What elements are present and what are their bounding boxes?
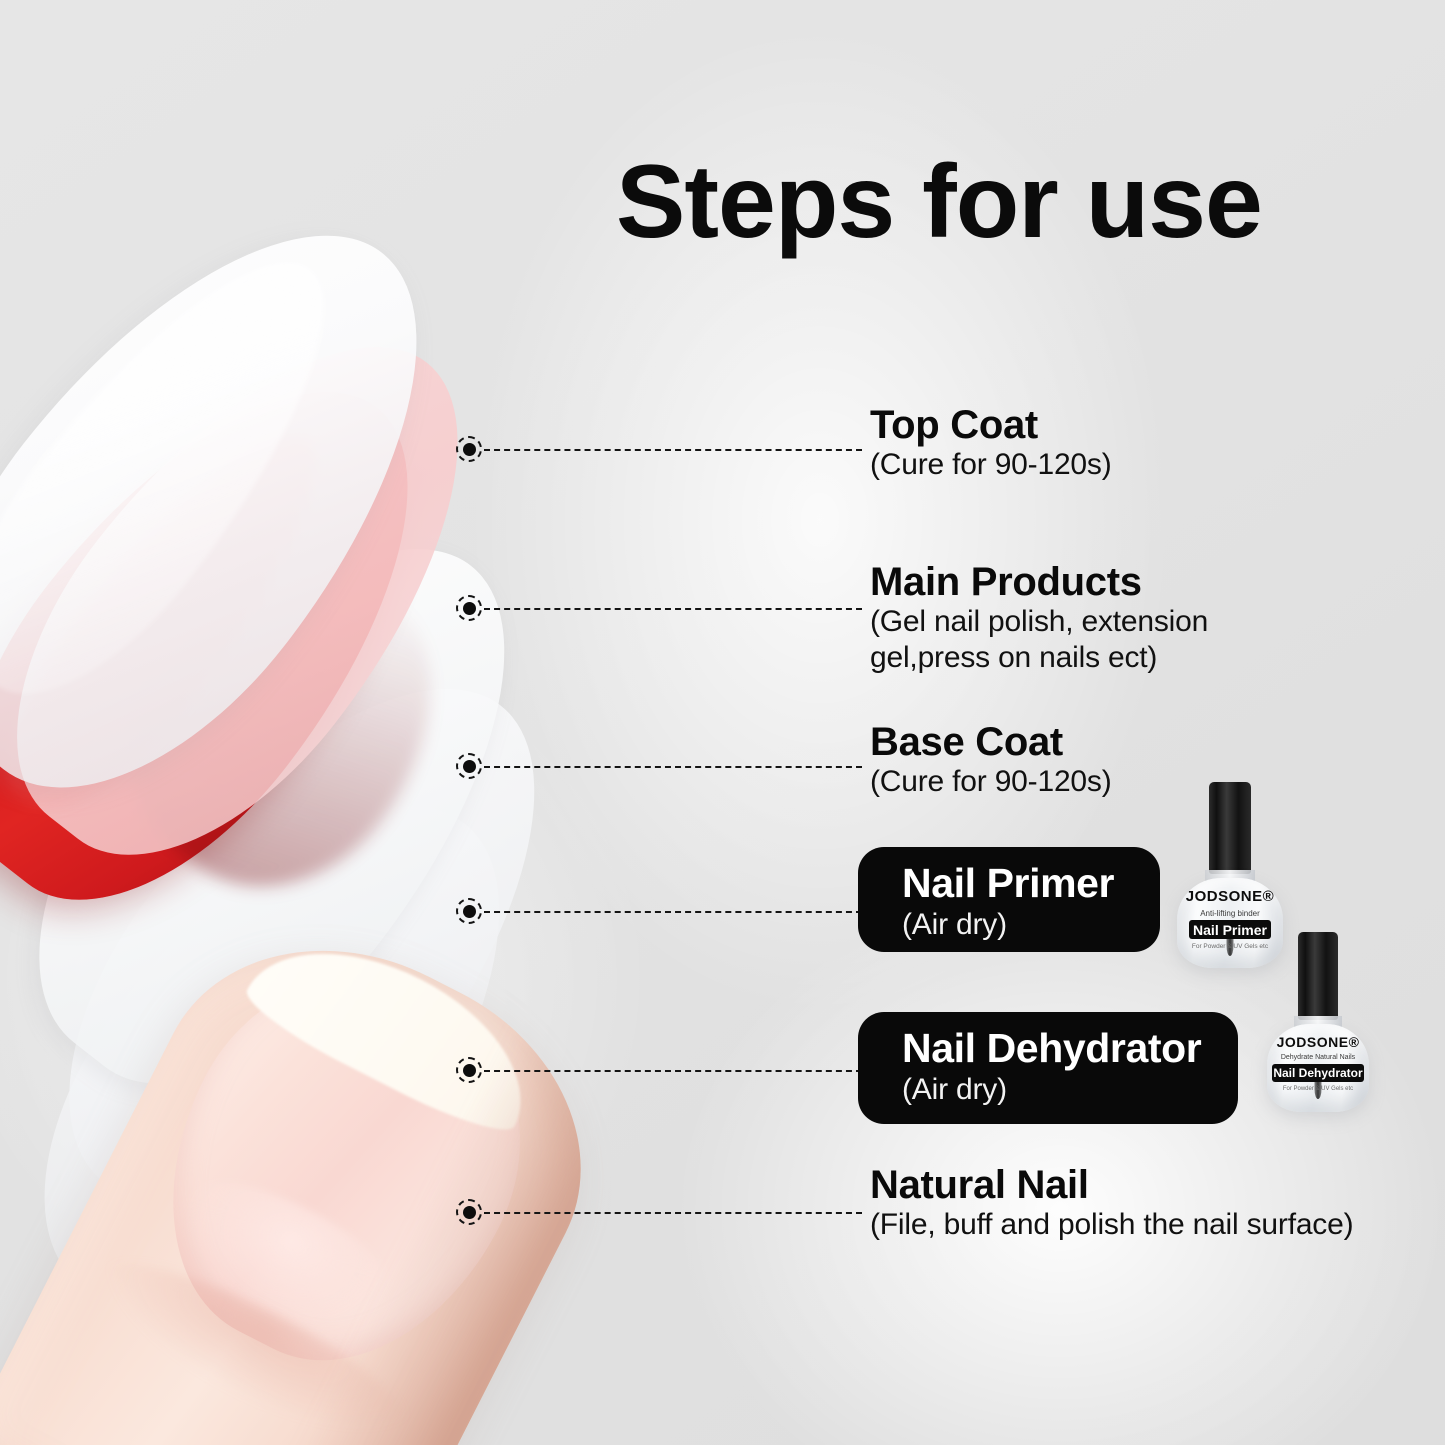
label-main-products-title: Main Products xyxy=(870,560,1208,604)
bottle-fineprint-dehydrator: For Powder & UV Gels etc xyxy=(1267,1086,1369,1092)
label-nail-primer-subtitle: (Air dry) xyxy=(902,907,1134,942)
connector-line-base-coat xyxy=(484,766,862,768)
label-natural-nail-subtitle: (File, buff and polish the nail surface) xyxy=(870,1207,1353,1243)
label-nail-dehydrator: Nail Dehydrator (Air dry) xyxy=(858,1012,1238,1124)
bottle-cap-dehydrator xyxy=(1298,932,1338,1020)
label-top-coat-subtitle: (Cure for 90-120s) xyxy=(870,447,1112,483)
bottle-name-banner-dehydrator: Nail Dehydrator xyxy=(1272,1064,1364,1082)
connector-line-top-coat xyxy=(484,449,862,451)
label-nail-primer-title: Nail Primer xyxy=(902,861,1134,907)
bottle-body-dehydrator: JODSONE® Dehydrate Natural Nails Nail De… xyxy=(1267,1024,1369,1112)
product-bottle-nail-dehydrator: JODSONE® Dehydrate Natural Nails Nail De… xyxy=(1262,932,1374,1112)
marker-dot-top-coat xyxy=(456,436,482,462)
page-title: Steps for use xyxy=(616,150,1262,254)
label-nail-dehydrator-title: Nail Dehydrator xyxy=(902,1026,1212,1072)
bottle-name-banner-primer: Nail Primer xyxy=(1189,920,1271,939)
infographic-canvas: Steps for use Top Coat (Cure for 90-120s… xyxy=(0,0,1445,1445)
marker-dot-nail-primer xyxy=(456,898,482,924)
marker-dot-base-coat xyxy=(456,753,482,779)
label-top-coat: Top Coat (Cure for 90-120s) xyxy=(870,403,1112,483)
label-top-coat-title: Top Coat xyxy=(870,403,1112,447)
bottle-brand-dehydrator: JODSONE® xyxy=(1267,1034,1369,1050)
label-nail-primer: Nail Primer (Air dry) xyxy=(858,847,1160,952)
connector-line-natural-nail xyxy=(484,1212,862,1214)
bottle-tagline-dehydrator: Dehydrate Natural Nails xyxy=(1267,1054,1369,1061)
label-main-products: Main Products (Gel nail polish, extensio… xyxy=(870,560,1208,676)
marker-dot-main-products xyxy=(456,595,482,621)
bottle-cap-primer xyxy=(1209,782,1251,874)
connector-line-nail-primer xyxy=(484,911,862,913)
bottle-brand-primer: JODSONE® xyxy=(1177,888,1283,905)
marker-dot-natural-nail xyxy=(456,1199,482,1225)
label-base-coat-subtitle: (Cure for 90-120s) xyxy=(870,764,1112,800)
bottle-tagline-primer: Anti-lifting binder xyxy=(1177,909,1283,918)
label-nail-dehydrator-subtitle: (Air dry) xyxy=(902,1072,1212,1107)
label-main-products-subtitle-line1: (Gel nail polish, extension xyxy=(870,604,1208,640)
label-natural-nail: Natural Nail (File, buff and polish the … xyxy=(870,1163,1353,1243)
connector-line-nail-dehydrator xyxy=(484,1070,862,1072)
label-main-products-subtitle-line2: gel,press on nails ect) xyxy=(870,640,1208,676)
label-natural-nail-title: Natural Nail xyxy=(870,1163,1353,1207)
connector-line-main-products xyxy=(484,608,862,610)
label-base-coat-title: Base Coat xyxy=(870,720,1112,764)
marker-dot-nail-dehydrator xyxy=(456,1057,482,1083)
label-base-coat: Base Coat (Cure for 90-120s) xyxy=(870,720,1112,800)
